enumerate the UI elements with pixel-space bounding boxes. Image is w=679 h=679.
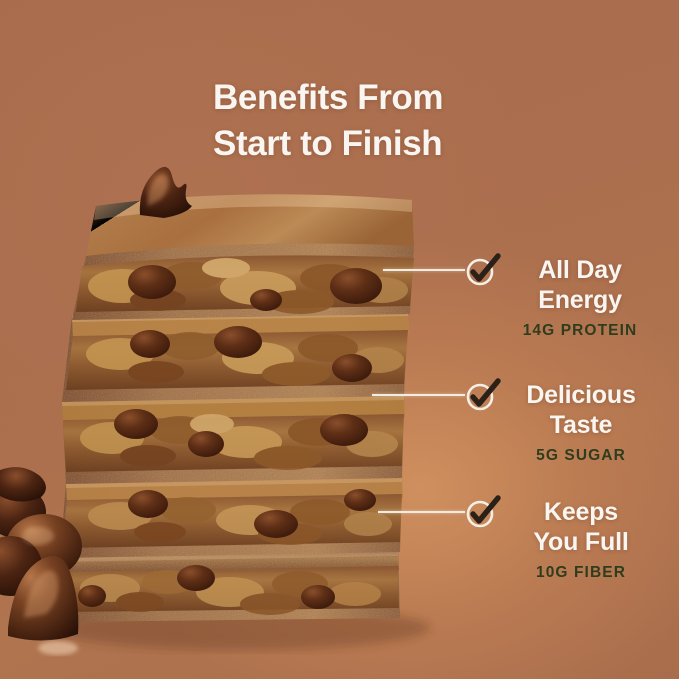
- check-circle-icon: [463, 492, 503, 532]
- protein-bar-5: [58, 550, 400, 622]
- benefit-text-1: All Day Energy 14G PROTEIN: [500, 255, 660, 340]
- benefit-stat-1: 14G PROTEIN: [500, 322, 660, 340]
- benefit-stat-3: 10G FIBER: [502, 564, 660, 582]
- chocolate-kiss-top: [140, 167, 192, 218]
- protein-bar-2: [62, 310, 409, 402]
- check-circle-icon: [463, 375, 503, 415]
- page-title: Benefits From Start to Finish: [213, 75, 633, 166]
- promo-image: Benefits From Start to Finish All Day En…: [0, 0, 679, 679]
- benefit-text-3: Keeps You Full 10G FIBER: [502, 497, 660, 582]
- protein-bar-3: [62, 394, 405, 484]
- benefit-title-2: Delicious Taste: [498, 380, 664, 440]
- benefit-title-1: All Day Energy: [500, 255, 660, 315]
- leader-line-1: [383, 269, 465, 271]
- protein-bar-4: [60, 476, 403, 558]
- protein-bar-1: [72, 194, 414, 320]
- benefit-title-3: Keeps You Full: [502, 497, 660, 557]
- leader-line-2: [372, 394, 465, 396]
- leader-line-3: [378, 511, 465, 513]
- benefit-stat-2: 5G SUGAR: [498, 447, 664, 465]
- benefit-text-2: Delicious Taste 5G SUGAR: [498, 380, 664, 465]
- check-circle-icon: [463, 250, 503, 290]
